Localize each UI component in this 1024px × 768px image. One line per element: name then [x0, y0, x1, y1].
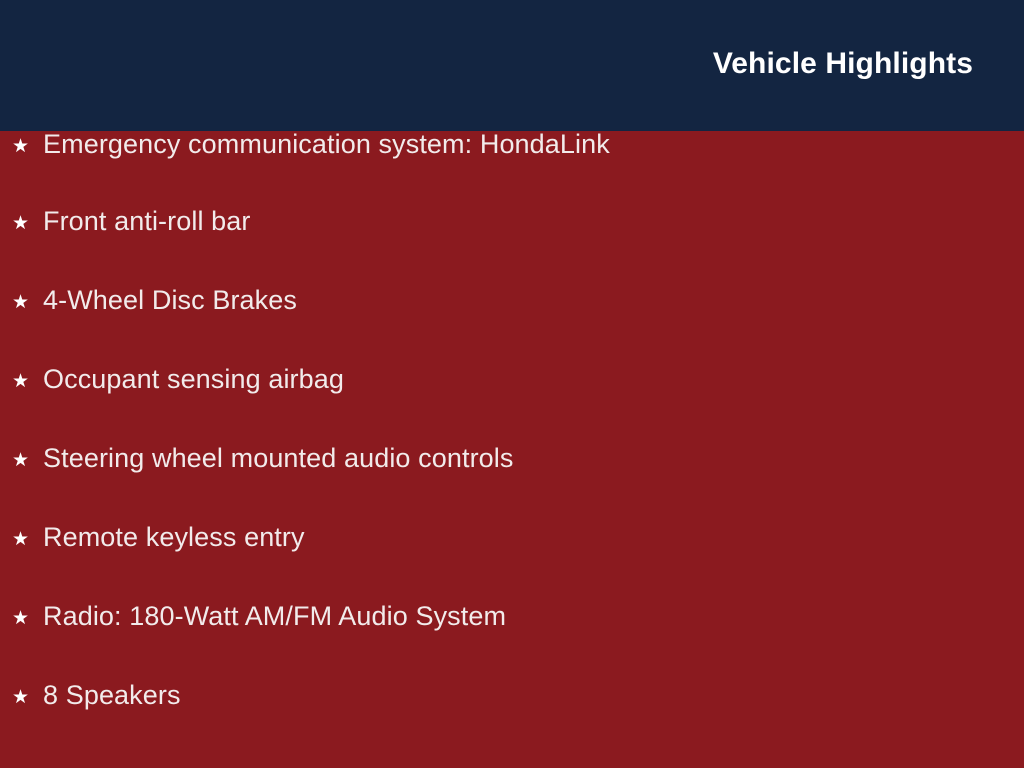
list-item-label: Steering wheel mounted audio controls: [43, 445, 514, 472]
vehicle-highlights-list: ★ Emergency communication system: HondaL…: [0, 131, 1024, 761]
star-icon: ★: [12, 688, 28, 707]
list-item-label: 8 Speakers: [43, 682, 181, 709]
slide-body: ★ Emergency communication system: HondaL…: [0, 131, 1024, 768]
slide-header: Vehicle Highlights: [0, 0, 1024, 131]
star-icon: ★: [12, 137, 28, 156]
star-icon: ★: [12, 372, 28, 391]
list-item-label: 4-Wheel Disc Brakes: [43, 287, 297, 314]
star-icon: ★: [12, 530, 28, 549]
list-item-label: Occupant sensing airbag: [43, 366, 344, 393]
slide: Vehicle Highlights ★ Emergency communica…: [0, 0, 1024, 768]
star-icon: ★: [12, 214, 28, 233]
star-icon: ★: [12, 609, 28, 628]
list-item-label: Remote keyless entry: [43, 524, 305, 551]
list-item-label: Radio: 180-Watt AM/FM Audio System: [43, 603, 506, 630]
list-item: ★ Emergency communication system: HondaL…: [0, 131, 1024, 208]
list-item-label: Emergency communication system: HondaLin…: [43, 131, 610, 158]
list-item: ★ 4-Wheel Disc Brakes: [0, 287, 1024, 366]
star-icon: ★: [12, 451, 28, 470]
list-item: ★ Remote keyless entry: [0, 524, 1024, 603]
star-icon: ★: [12, 293, 28, 312]
list-item: ★ Front anti-roll bar: [0, 208, 1024, 287]
list-item: ★ Radio: 180-Watt AM/FM Audio System: [0, 603, 1024, 682]
page-title: Vehicle Highlights: [713, 0, 1024, 79]
list-item: ★ Steering wheel mounted audio controls: [0, 445, 1024, 524]
list-item: ★ 8 Speakers: [0, 682, 1024, 761]
list-item: ★ Occupant sensing airbag: [0, 366, 1024, 445]
list-item-label: Front anti-roll bar: [43, 208, 250, 235]
